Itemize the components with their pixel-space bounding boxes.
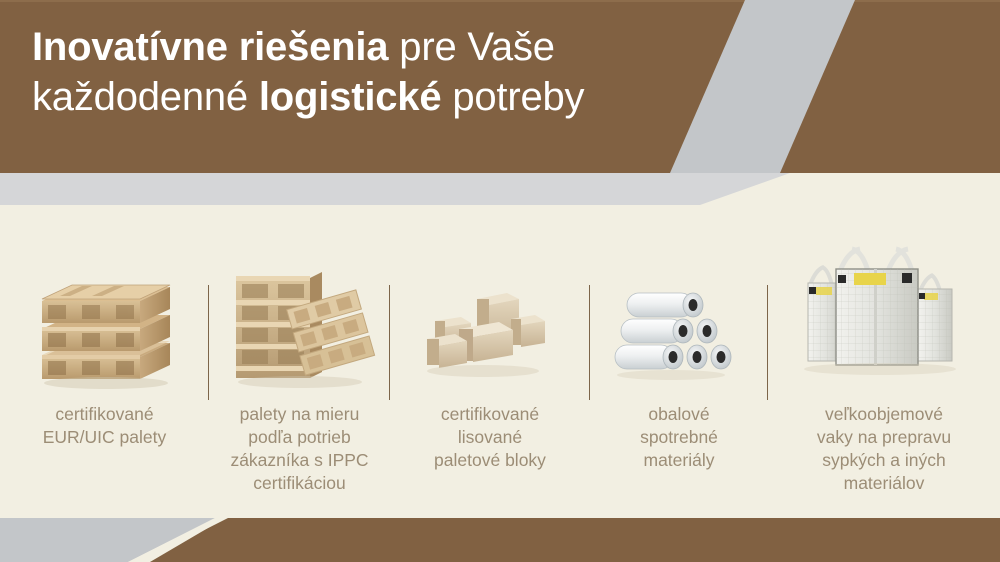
caption-line: veľkoobjemové <box>774 403 994 426</box>
product-caption: certifikované lisované paletové bloky <box>390 403 590 472</box>
footer-brown-wedge <box>150 518 1000 562</box>
title-line-1-bold: Inovatívne riešenia <box>32 25 388 69</box>
caption-line: certifikované <box>6 403 203 426</box>
caption-line: podľa potrieb <box>215 426 384 449</box>
product-caption: certifikované EUR/UIC palety <box>0 403 209 449</box>
big-bag-sacks-icon <box>792 245 977 395</box>
caption-line: materiály <box>596 449 762 472</box>
caption-line: spotrebné <box>596 426 762 449</box>
upper-gray-band-tail <box>0 173 790 205</box>
caption-line: certifikované <box>396 403 584 426</box>
title-line-2-bold: logistické <box>259 75 442 119</box>
product-item-eur-uic-pallets[interactable]: certifikované EUR/UIC palety <box>0 245 209 449</box>
caption-line: materiálov <box>774 472 994 495</box>
caption-line: palety na mieru <box>215 403 384 426</box>
title-line-2-rest2: potreby <box>441 75 584 119</box>
pressed-wood-blocks-icon <box>415 245 565 395</box>
slide-canvas: Inovatívne riešenia pre Vaše každodenné … <box>0 0 1000 562</box>
caption-line: EUR/UIC palety <box>6 426 203 449</box>
caption-line: vaky na prepravu <box>774 426 994 449</box>
product-item-packaging-materials[interactable]: obalové spotrebné materiály <box>590 245 768 472</box>
caption-line: sypkých a iných <box>774 449 994 472</box>
product-caption: obalové spotrebné materiály <box>590 403 768 472</box>
product-list: certifikované EUR/UIC palety <box>0 245 1000 495</box>
title-line-2: každodenné logistické potreby <box>32 72 732 122</box>
stacked-wooden-pallets-icon <box>30 245 180 395</box>
caption-line: certifikáciou <box>215 472 384 495</box>
title-line-1: Inovatívne riešenia pre Vaše <box>32 22 732 72</box>
title-line-2-rest1: každodenné <box>32 75 259 119</box>
product-caption: veľkoobjemové vaky na prepravu sypkých a… <box>768 403 1000 495</box>
product-item-big-bags[interactable]: veľkoobjemové vaky na prepravu sypkých a… <box>768 245 1000 495</box>
page-title: Inovatívne riešenia pre Vaše každodenné … <box>32 22 732 122</box>
caption-line: zákazníka s IPPC <box>215 449 384 472</box>
product-caption: palety na mieru podľa potrieb zákazníka … <box>209 403 390 495</box>
caption-line: obalové <box>596 403 762 426</box>
caption-line: lisované <box>396 426 584 449</box>
product-item-pressed-pallet-blocks[interactable]: certifikované lisované paletové bloky <box>390 245 590 472</box>
title-line-1-rest: pre Vaše <box>388 25 554 69</box>
custom-wooden-pallets-icon <box>222 245 377 395</box>
stretch-film-rolls-icon <box>609 245 749 395</box>
product-item-custom-pallets[interactable]: palety na mieru podľa potrieb zákazníka … <box>209 245 390 495</box>
caption-line: paletové bloky <box>396 449 584 472</box>
